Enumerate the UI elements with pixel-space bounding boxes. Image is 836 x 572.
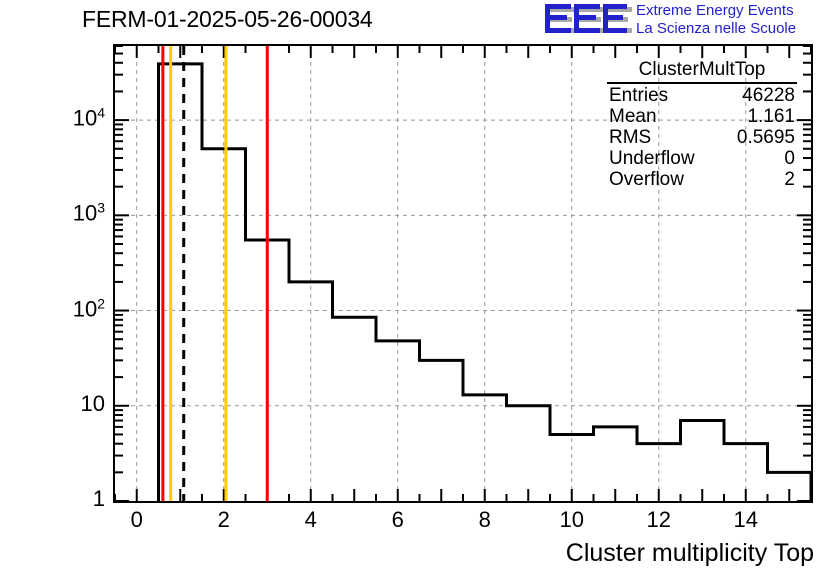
y-axis-tick-label: 102	[73, 295, 105, 322]
stats-title: ClusterMultTop	[607, 59, 797, 84]
stats-row-value: 0	[784, 148, 795, 169]
page-title: FERM-01-2025-05-26-00034	[82, 6, 373, 33]
stats-box: ClusterMultTop Entries46228Mean1.161RMS0…	[607, 59, 797, 190]
chart-canvas: FERM-01-2025-05-26-00034	[0, 0, 836, 572]
y-axis-tick-label: 104	[73, 104, 105, 131]
stats-row: Underflow0	[607, 148, 797, 169]
eee-logo-line2: La Scienza nelle Scuole	[636, 20, 796, 38]
stats-row: RMS0.5695	[607, 127, 797, 148]
stats-row-label: Overflow	[609, 169, 684, 190]
stats-row-label: RMS	[609, 127, 651, 148]
x-axis-tick-label: 0	[131, 507, 143, 533]
x-axis-tick-label: 10	[560, 507, 584, 533]
x-axis-tick-label: 2	[218, 507, 230, 533]
eee-logo: Extreme Energy Events La Scienza nelle S…	[544, 2, 834, 40]
x-axis-title: Cluster multiplicity Top	[566, 539, 814, 568]
x-axis-tick-label: 14	[734, 507, 758, 533]
stats-rows: Entries46228Mean1.161RMS0.5695Underflow0…	[607, 85, 797, 190]
eee-logo-text: Extreme Energy Events La Scienza nelle S…	[636, 2, 796, 38]
stats-row-label: Entries	[609, 85, 668, 106]
stats-row: Mean1.161	[607, 106, 797, 127]
stats-row-value: 1.161	[747, 106, 795, 127]
stats-row-label: Mean	[609, 106, 657, 127]
stats-row: Entries46228	[607, 85, 797, 106]
x-axis-tick-label: 12	[647, 507, 671, 533]
y-axis-tick-label: 10	[81, 391, 105, 417]
y-axis-tick-label: 1	[93, 486, 105, 512]
stats-row-value: 2	[784, 169, 795, 190]
stats-row-value: 0.5695	[737, 127, 795, 148]
x-axis-tick-label: 4	[305, 507, 317, 533]
stats-row-label: Underflow	[609, 148, 695, 169]
eee-logo-glyphs	[544, 3, 632, 37]
x-axis-tick-label: 8	[479, 507, 491, 533]
y-axis-tick-label: 103	[73, 200, 105, 227]
x-axis-tick-label: 6	[392, 507, 404, 533]
eee-logo-mark	[544, 3, 632, 37]
stats-row-value: 46228	[742, 85, 795, 106]
eee-logo-line1: Extreme Energy Events	[636, 2, 796, 20]
stats-row: Overflow2	[607, 169, 797, 190]
